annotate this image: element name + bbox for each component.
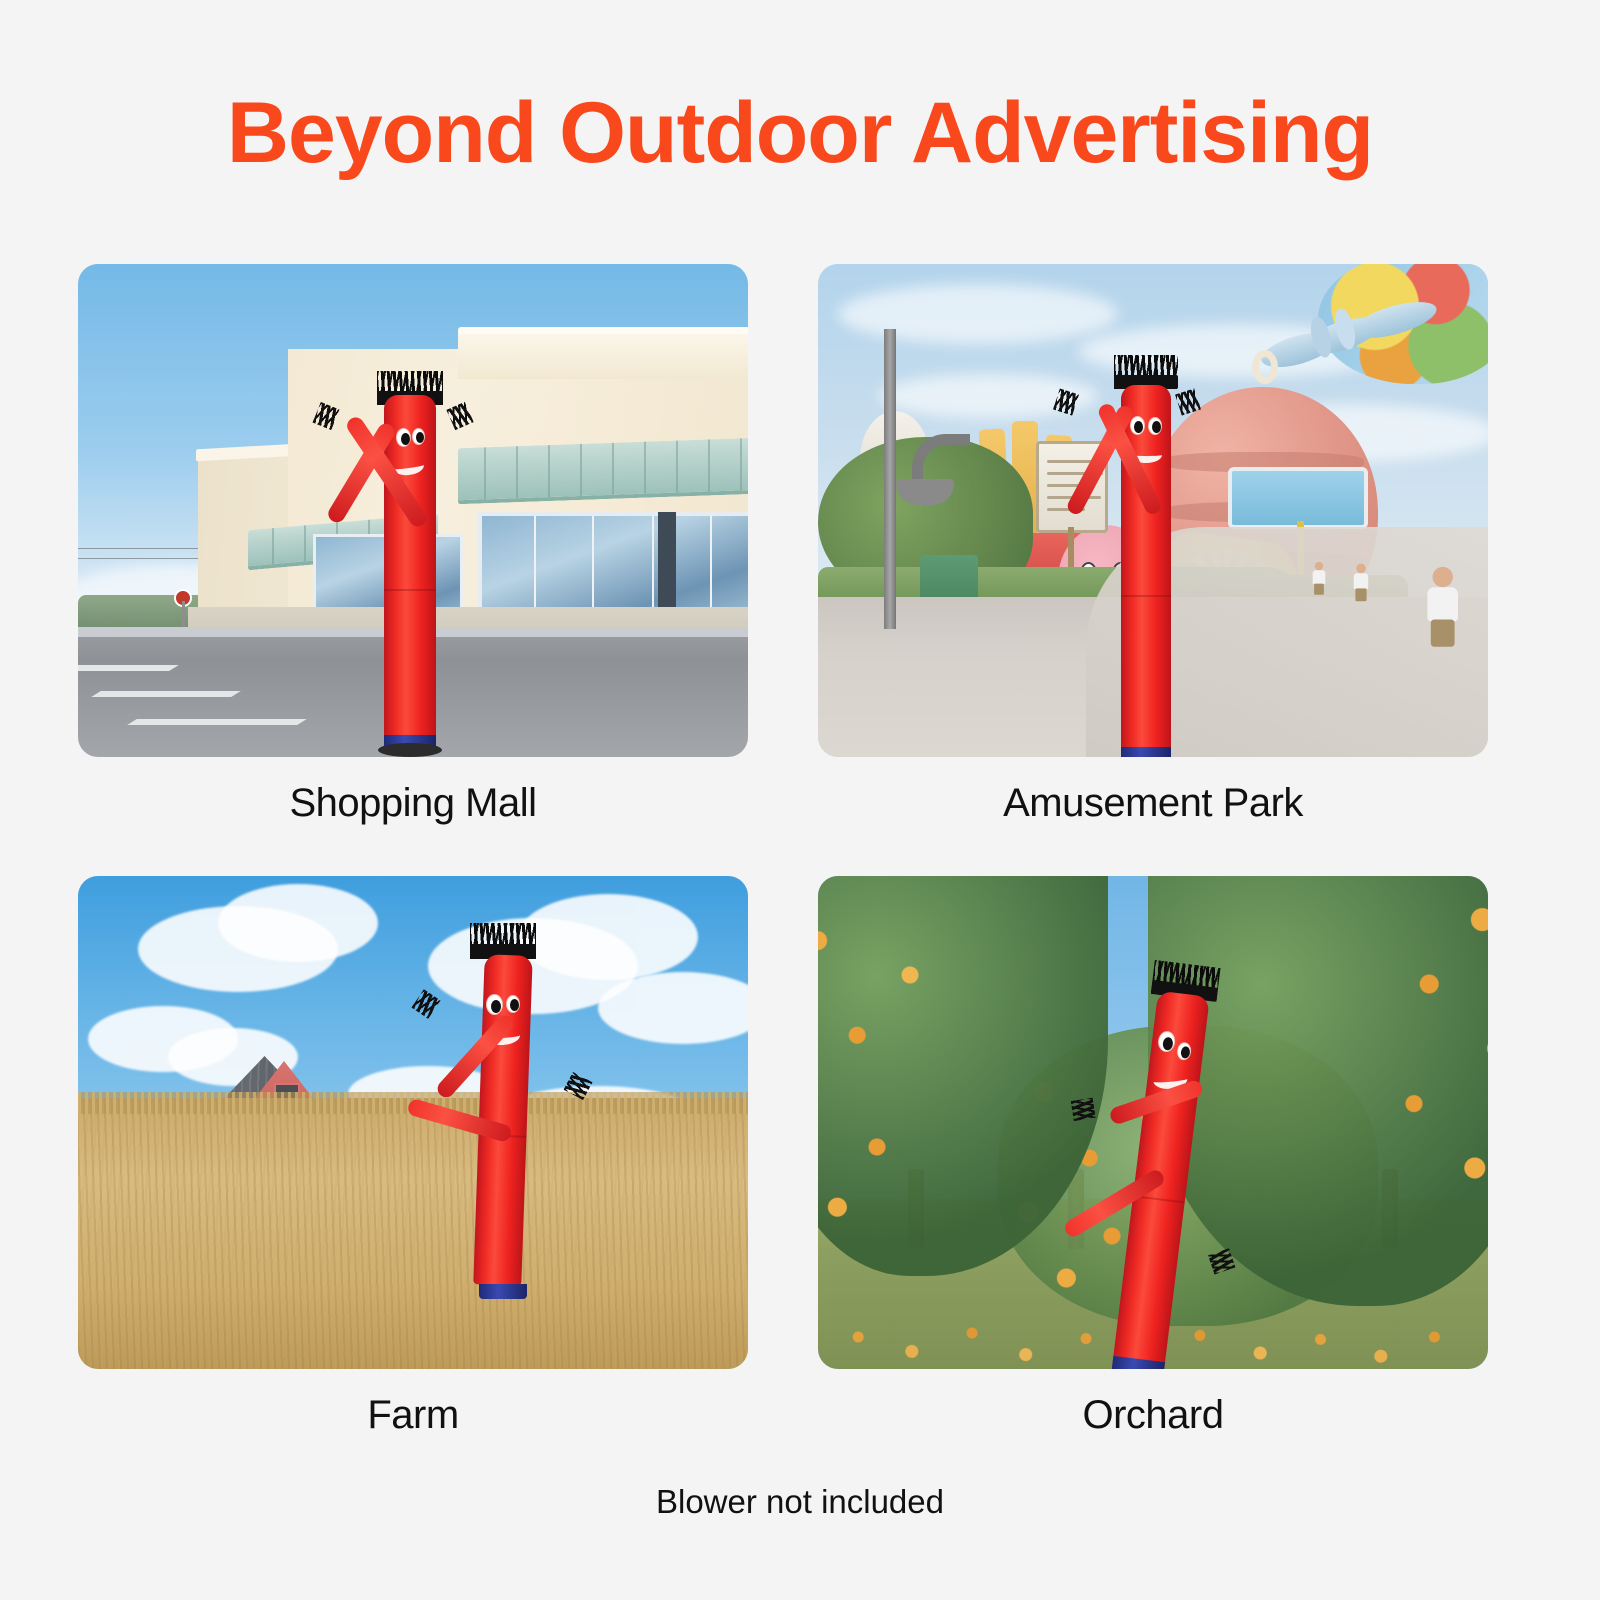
building-parapet — [458, 327, 748, 379]
tube-man-hand-right — [446, 402, 473, 430]
tube-man-base-collar — [1121, 747, 1171, 757]
tube-man-eye — [1148, 417, 1162, 435]
scene-photo-amusement-park — [818, 264, 1488, 757]
inflatable-tube-man — [1086, 337, 1206, 757]
tree-canopy-left — [818, 876, 1108, 1276]
page-title: Beyond Outdoor Advertising — [0, 88, 1600, 178]
gallery-cell-shopping-mall: Shopping Mall — [78, 264, 748, 827]
tube-man-base-ring — [378, 743, 442, 757]
park-visitor — [1354, 564, 1368, 601]
scene-caption-shopping-mall: Shopping Mall — [78, 779, 748, 827]
inflatable-tube-man — [350, 357, 470, 757]
gallery-cell-amusement-park: Amusement Park — [818, 264, 1488, 827]
tube-man-hair — [1114, 355, 1178, 389]
tube-man-eye — [486, 994, 503, 1015]
park-billboard — [1228, 467, 1368, 529]
scene-caption-orchard: Orchard — [818, 1391, 1488, 1439]
disclaimer-note: Blower not included — [0, 1483, 1600, 1521]
tube-man-hand-right — [1175, 388, 1201, 415]
gallery-cell-farm: Farm — [78, 876, 748, 1439]
scene-photo-farm — [78, 876, 748, 1369]
tube-man-eye — [1130, 416, 1145, 435]
inflatable-tube-man — [438, 913, 568, 1303]
gallery-cell-orchard: Orchard — [818, 876, 1488, 1439]
tube-man-body — [384, 395, 436, 739]
tube-man-eye — [412, 428, 425, 445]
street-lamp — [884, 329, 896, 629]
tube-man-base-collar — [479, 1284, 527, 1299]
sign-pole — [182, 601, 185, 629]
tube-man-eye — [396, 428, 411, 447]
scene-caption-farm: Farm — [78, 1391, 748, 1439]
park-visitor — [1427, 567, 1458, 645]
tube-man-hair — [470, 923, 536, 959]
scene-photo-shopping-mall — [78, 264, 748, 757]
rope-sculpture — [1248, 272, 1488, 392]
tube-man-hand-left — [1071, 1098, 1096, 1121]
scene-photo-orchard — [818, 876, 1488, 1369]
awning-entrance — [458, 438, 748, 504]
wheat-field — [78, 1098, 748, 1369]
park-visitor — [1313, 562, 1326, 594]
scene-caption-amusement-park: Amusement Park — [818, 779, 1488, 827]
tube-man-eye — [506, 995, 520, 1013]
